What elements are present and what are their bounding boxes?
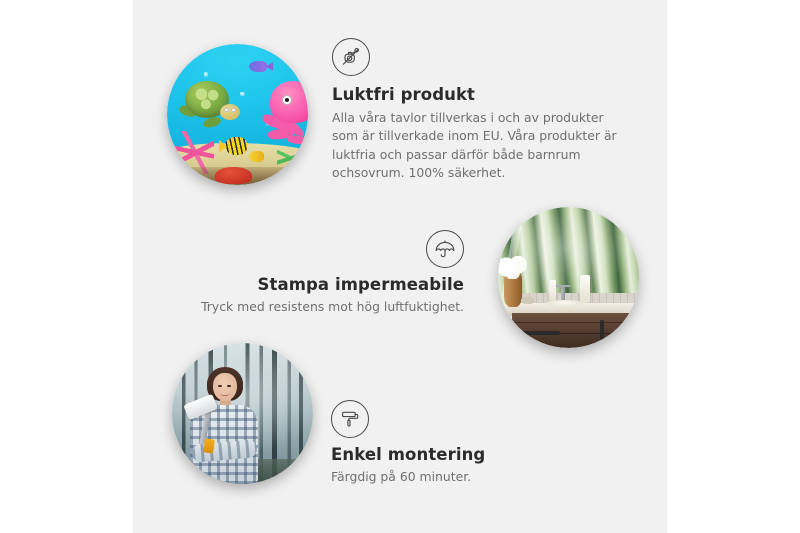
feature-waterproof: Stampa impermeabile Tryck med resistens …	[196, 230, 464, 316]
image-painter	[172, 343, 313, 484]
umbrella-icon	[426, 230, 464, 268]
bottle	[580, 275, 590, 303]
bubble-icon	[240, 92, 244, 96]
turtle-icon	[178, 81, 237, 132]
icon-wrap	[196, 230, 464, 275]
crab-icon	[215, 167, 252, 184]
person-face	[213, 373, 237, 401]
image-aquatic	[167, 44, 308, 185]
yellow-fish-icon	[225, 137, 248, 155]
sink	[546, 300, 583, 307]
paint-roller-icon	[331, 400, 369, 438]
feature-title: Enkel montering	[331, 445, 591, 465]
feature-mounting: Enkel montering Färgdig på 60 minuter.	[331, 400, 591, 486]
octopus-icon	[260, 81, 308, 152]
door-handle	[600, 320, 604, 340]
flowers	[498, 255, 528, 279]
no-odor-spray-bottle-icon	[332, 38, 370, 76]
icon-wrap	[331, 400, 591, 438]
feature-description: Alla våra tavlor tillverkas i och av pro…	[332, 109, 632, 182]
feature-title: Luktfri produkt	[332, 85, 632, 105]
blue-fish-icon	[249, 61, 267, 72]
drawer-handle	[523, 331, 560, 335]
image-bathroom	[498, 207, 639, 348]
bottle	[549, 280, 556, 301]
feature-title: Stampa impermeabile	[196, 275, 464, 295]
product-feature-panel: Luktfri produkt Alla våra tavlor tillver…	[0, 0, 800, 533]
feature-description: Tryck med resistens mot hög luftfuktighe…	[196, 298, 464, 316]
soap-dish	[521, 297, 535, 304]
small-fish-icon	[249, 151, 265, 162]
icon-wrap	[332, 38, 632, 76]
feature-description: Färgdig på 60 minuter.	[331, 468, 591, 486]
feature-odorless: Luktfri produkt Alla våra tavlor tillver…	[332, 38, 632, 182]
faucet	[561, 285, 565, 302]
